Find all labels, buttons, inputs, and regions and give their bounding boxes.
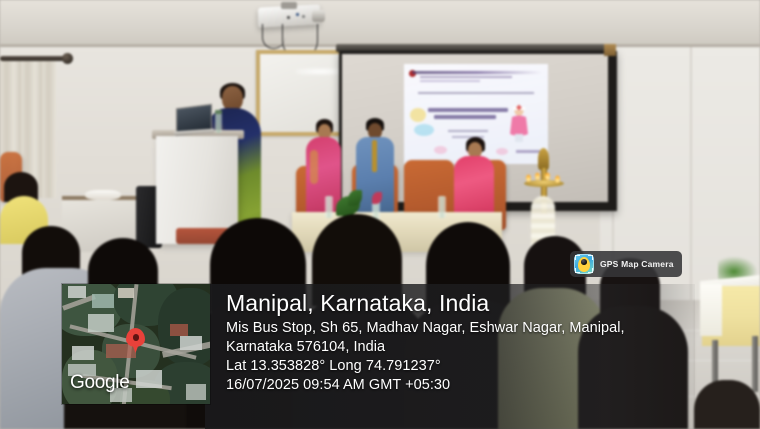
- screen-bracket: [604, 44, 616, 56]
- coordinates: Lat 13.353828° Long 74.791237°: [226, 357, 696, 376]
- curtain-finial: [62, 53, 73, 64]
- side-table-leg-2: [752, 336, 758, 392]
- gps-map-camera-badge[interactable]: GPS Map Camera: [570, 251, 682, 277]
- whiteboard-smudge: [296, 68, 344, 75]
- map-thumbnail[interactable]: Google: [62, 284, 210, 404]
- location-title: Manipal, Karnataka, India: [226, 288, 696, 319]
- lamp-finial: [538, 148, 549, 170]
- projector-lens: [312, 10, 325, 22]
- timestamp: 16/07/2025 09:54 AM GMT +05:30: [226, 376, 696, 395]
- camera-lens-icon: [581, 259, 587, 265]
- address-line-2: Karnataka 576104, India: [226, 338, 696, 357]
- gps-map-camera-icon: [574, 254, 594, 274]
- side-table-cloth-white: [700, 284, 722, 336]
- ceiling: [0, 0, 760, 48]
- audience-member: [694, 380, 760, 429]
- water-bottle: [215, 113, 222, 133]
- table-water-bottle: [325, 196, 333, 218]
- google-watermark: Google: [70, 372, 129, 394]
- whiteboard: [256, 50, 349, 136]
- gps-map-camera-label: GPS Map Camera: [600, 259, 674, 269]
- cabinet-item: [85, 190, 121, 200]
- location-text-block: Manipal, Karnataka, India Mis Bus Stop, …: [226, 288, 696, 395]
- table-water-bottle-3: [438, 196, 446, 218]
- map-pin-hole: [133, 334, 140, 341]
- screenshot-root: GPS Map Camera Google Manipal, Karn: [0, 0, 760, 429]
- projector-mount: [281, 2, 297, 9]
- address-line-1: Mis Bus Stop, Sh 65, Madhav Nagar, Eshwa…: [226, 319, 696, 338]
- slide-illustration: [508, 104, 530, 142]
- bottle-cap: [215, 110, 222, 114]
